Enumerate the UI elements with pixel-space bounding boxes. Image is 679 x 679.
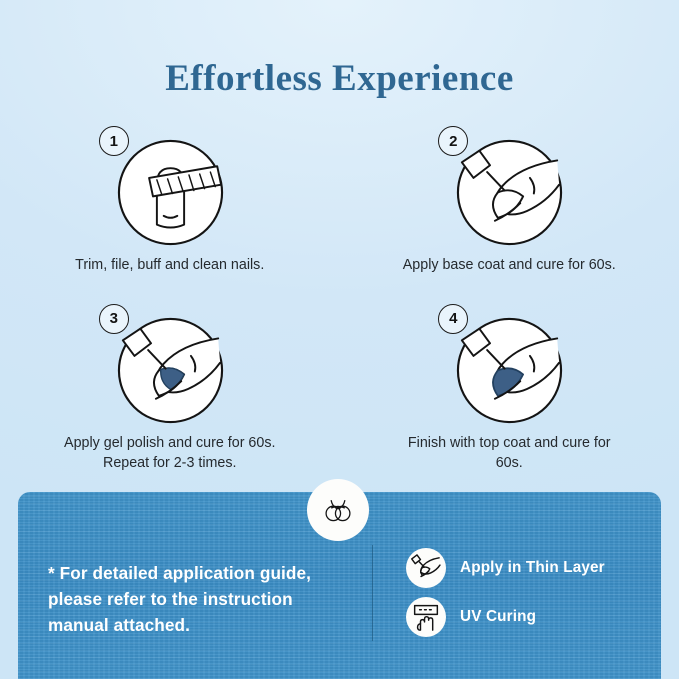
brand-logo-badge bbox=[307, 479, 369, 541]
thin-layer-icon-badge bbox=[406, 548, 446, 588]
feature-label-thin-layer: Apply in Thin Layer bbox=[460, 559, 605, 577]
uv-lamp-icon bbox=[410, 601, 442, 633]
instruction-note: * For detailed application guide, please… bbox=[48, 560, 348, 638]
base-coat-brush-icon bbox=[456, 139, 563, 246]
step-4-illustration-wrap: 4 bbox=[434, 304, 584, 426]
step-3-illustration-wrap: 3 bbox=[95, 304, 245, 426]
promo-page: Effortless Experience 1 Trim, file, buff… bbox=[0, 0, 679, 679]
steps-grid: 1 Trim, file, buff and clean nails. 2 bbox=[0, 126, 679, 474]
step-item-2: 2 Apply base coat and cure for 60s. bbox=[340, 126, 679, 276]
step-caption-3: Apply gel polish and cure for 60s. Repea… bbox=[62, 433, 277, 474]
step-1-illustration-wrap: 1 bbox=[95, 126, 245, 248]
step-item-4: 4 Finish with top coat and cure for 60s. bbox=[340, 304, 679, 474]
feature-list: Apply in Thin Layer UV Curing bbox=[406, 548, 605, 637]
step-item-3: 3 Apply gel polish and cure for 60s. Rep… bbox=[0, 304, 340, 474]
feature-label-uv-curing: UV Curing bbox=[460, 608, 536, 626]
page-title: Effortless Experience bbox=[0, 57, 679, 100]
panel-divider bbox=[372, 545, 373, 641]
uv-curing-icon-badge bbox=[406, 597, 446, 637]
step-item-1: 1 Trim, file, buff and clean nails. bbox=[0, 126, 340, 276]
step-number-badge-1: 1 bbox=[99, 126, 129, 156]
step-2-illustration-wrap: 2 bbox=[434, 126, 584, 248]
top-coat-brush-icon bbox=[456, 317, 563, 424]
feature-item-uv-curing: UV Curing bbox=[406, 597, 605, 637]
step-caption-1: Trim, file, buff and clean nails. bbox=[62, 255, 277, 276]
step-caption-4: Finish with top coat and cure for 60s. bbox=[402, 433, 617, 474]
feature-item-thin-layer: Apply in Thin Layer bbox=[406, 548, 605, 588]
step-caption-2: Apply base coat and cure for 60s. bbox=[402, 255, 617, 276]
thin-layer-brush-icon bbox=[410, 552, 442, 584]
step-number-badge-3: 3 bbox=[99, 304, 129, 334]
step-number-badge-4: 4 bbox=[438, 304, 468, 334]
brand-logo-icon bbox=[321, 493, 355, 527]
nail-file-icon bbox=[117, 139, 224, 246]
gel-polish-brush-icon bbox=[117, 317, 224, 424]
